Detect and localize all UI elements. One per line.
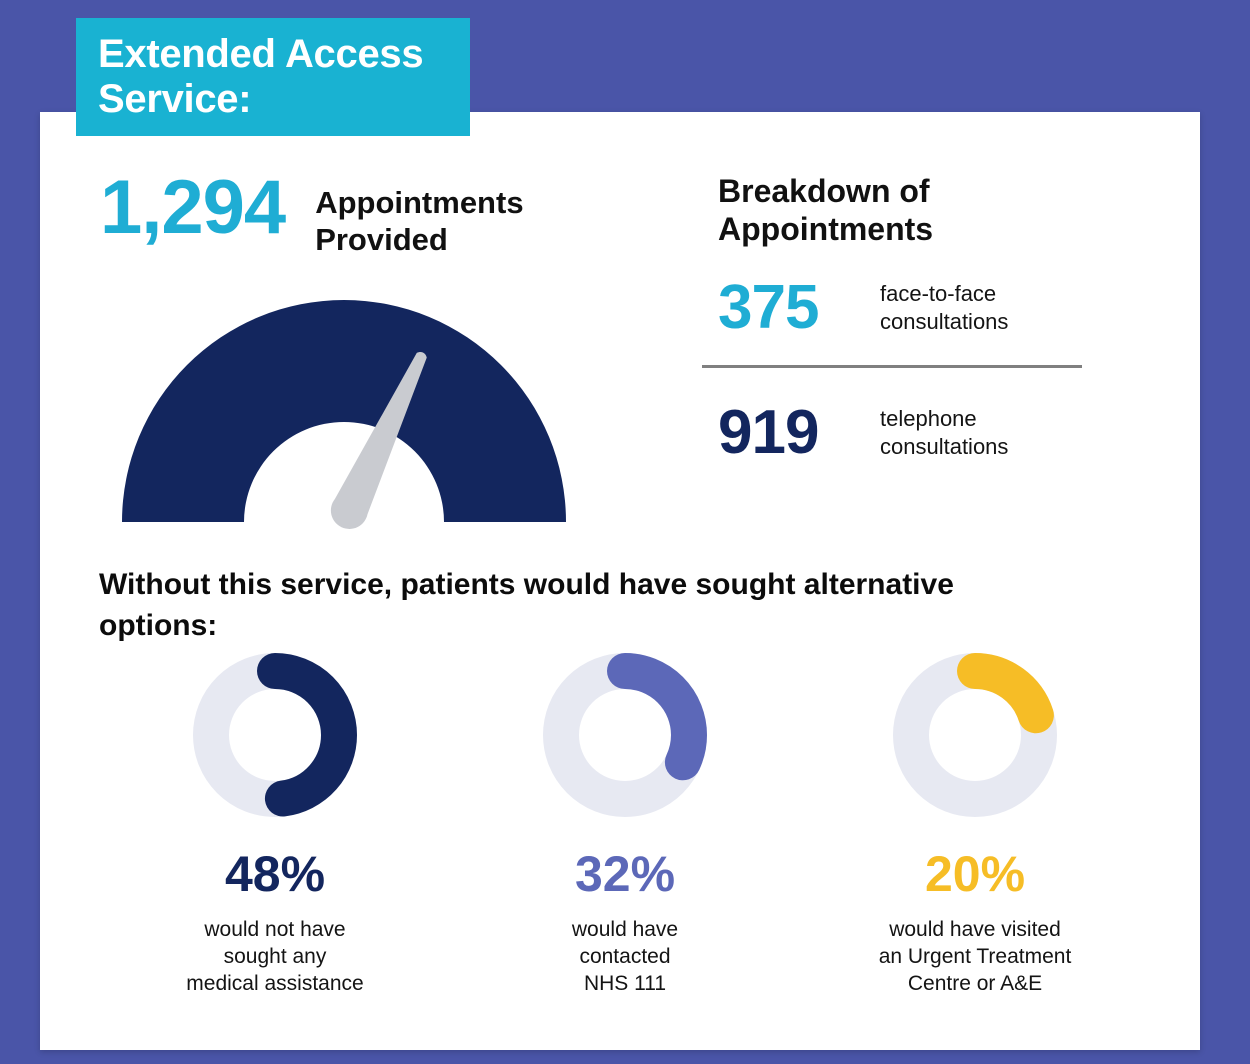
donut-percent-urgent-care: 20% xyxy=(925,849,1025,899)
appointments-label: Appointments Provided xyxy=(315,184,523,258)
donut-item-no-assistance: 48% would not have sought any medical as… xyxy=(115,645,435,998)
donut-chart-no-assistance xyxy=(185,645,365,825)
appointments-count: 1,294 xyxy=(100,172,285,244)
breakdown-title: Breakdown of Appointments xyxy=(718,172,1098,249)
page-title: Extended Access Service: xyxy=(98,32,470,122)
alternatives-donut-row: 48% would not have sought any medical as… xyxy=(100,645,1150,998)
telephone-label: telephone consultations xyxy=(880,405,1008,460)
donut-percent-no-assistance: 48% xyxy=(225,849,325,899)
donut-caption-no-assistance: would not have sought any medical assist… xyxy=(186,917,363,998)
breakdown-section: Breakdown of Appointments 375 face-to-fa… xyxy=(718,172,1098,464)
header-banner: Extended Access Service: xyxy=(76,18,470,136)
breakdown-row-telephone: 919 telephone consultations xyxy=(718,402,1098,464)
donut-caption-urgent-care: would have visited an Urgent Treatment C… xyxy=(879,917,1072,998)
donut-percent-nhs-111: 32% xyxy=(575,849,675,899)
donut-chart-nhs-111 xyxy=(535,645,715,825)
face-to-face-label: face-to-face consultations xyxy=(880,280,1008,335)
donut-item-urgent-care: 20% would have visited an Urgent Treatme… xyxy=(815,645,1135,998)
breakdown-row-face-to-face: 375 face-to-face consultations xyxy=(718,277,1098,339)
infographic-canvas: Extended Access Service: 1,294 Appointme… xyxy=(0,0,1250,1064)
face-to-face-count: 375 xyxy=(718,277,858,339)
alternatives-heading: Without this service, patients would hav… xyxy=(99,565,1139,646)
gauge-svg xyxy=(112,290,582,535)
appointments-gauge xyxy=(112,290,582,535)
donut-chart-urgent-care xyxy=(885,645,1065,825)
telephone-count: 919 xyxy=(718,402,858,464)
donut-caption-nhs-111: would have contacted NHS 111 xyxy=(572,917,678,998)
appointments-summary: 1,294 Appointments Provided xyxy=(100,172,524,258)
donut-item-nhs-111: 32% would have contacted NHS 111 xyxy=(465,645,785,998)
breakdown-divider xyxy=(702,365,1082,368)
